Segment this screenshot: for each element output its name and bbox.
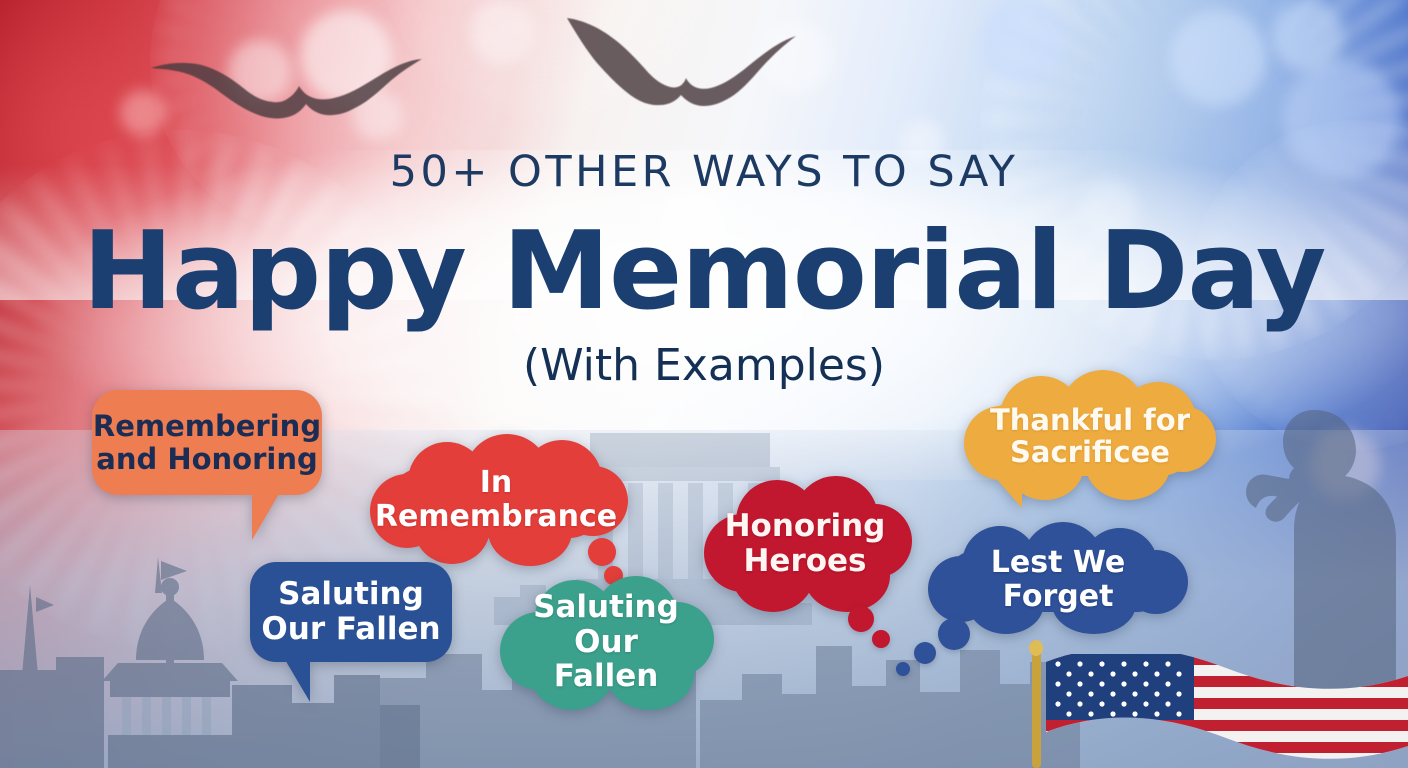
poster-subtitle: (With Examples)	[0, 340, 1408, 391]
bubble-line-1: Lest We Forget	[932, 546, 1184, 613]
bubble-line-1: In Remembrance	[365, 466, 627, 533]
bubble-remembering-and-honoring[interactable]: Remembering and Honoring	[92, 390, 322, 495]
bubble-line-2: Our Fallen	[518, 625, 694, 694]
bubble-thankful-for-sacrificee[interactable]: Thankful for Sacrificee	[968, 388, 1212, 484]
bubble-saluting-our-fallen-teal[interactable]: Saluting Our Fallen	[508, 592, 704, 692]
eagle-silhouette-icon	[555, 0, 825, 150]
page-title: Happy Memorial Day	[0, 215, 1408, 328]
bubble-tail	[992, 474, 1022, 508]
bubble-tail	[252, 492, 280, 540]
bubble-saluting-our-fallen-blue[interactable]: Saluting Our Fallen	[250, 562, 452, 662]
bubble-tail	[284, 658, 310, 702]
bubble-trail-dot	[588, 538, 616, 566]
bubble-line-2: Heroes	[725, 544, 886, 579]
bubble-line-1: Remembering	[93, 410, 321, 442]
bubble-lest-we-forget[interactable]: Lest We Forget	[932, 540, 1184, 620]
bubble-line-1: Saluting	[518, 590, 694, 625]
bubble-trail-dot	[848, 606, 874, 632]
memorial-day-poster: 50+ OTHER WAYS TO SAY Happy Memorial Day…	[0, 0, 1408, 768]
eagle-silhouette-icon	[145, 28, 425, 148]
bubble-line-1: Thankful for	[990, 404, 1190, 436]
bubble-trail-dot	[938, 618, 970, 650]
bubble-in-remembrance[interactable]: In Remembrance	[372, 452, 620, 548]
poster-kicker: 50+ OTHER WAYS TO SAY	[0, 147, 1408, 197]
bubble-line-1: Saluting	[261, 577, 440, 612]
bubble-line-1: Honoring	[725, 509, 886, 544]
bubble-trail-dot	[872, 630, 890, 648]
bubble-honoring-heroes[interactable]: Honoring Heroes	[712, 492, 898, 596]
bubble-trail-dot	[896, 662, 910, 676]
bubble-line-2: Sacrificee	[990, 436, 1190, 468]
bubble-line-2: Our Fallen	[261, 612, 440, 647]
bubble-trail-dot	[914, 642, 936, 664]
bubble-line-2: and Honoring	[93, 443, 321, 475]
american-flag	[1012, 634, 1408, 768]
